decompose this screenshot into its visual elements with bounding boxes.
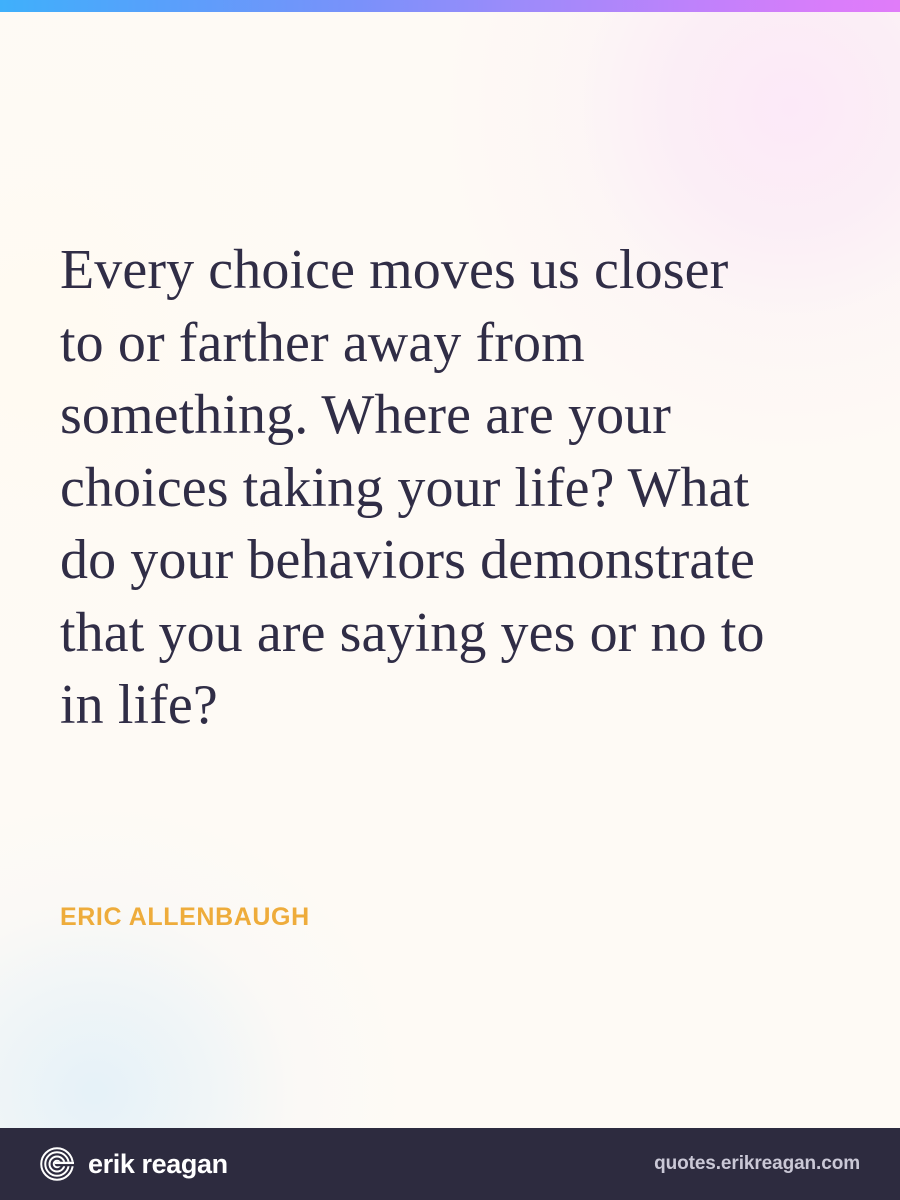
footer-bar: erik reagan quotes.erikreagan.com [0, 1128, 900, 1200]
brand-group[interactable]: erik reagan [40, 1147, 228, 1181]
site-url[interactable]: quotes.erikreagan.com [654, 1153, 860, 1175]
quote-card: Every choice moves us closer to or farth… [0, 0, 900, 1200]
quote-text: Every choice moves us closer to or farth… [60, 234, 780, 742]
quote-attribution: ERIC ALLENBAUGH [60, 903, 310, 932]
top-accent-bar [0, 0, 900, 12]
card-content: Every choice moves us closer to or farth… [0, 12, 900, 1128]
concentric-circles-e-logo-icon [40, 1147, 74, 1181]
brand-name: erik reagan [88, 1149, 228, 1180]
